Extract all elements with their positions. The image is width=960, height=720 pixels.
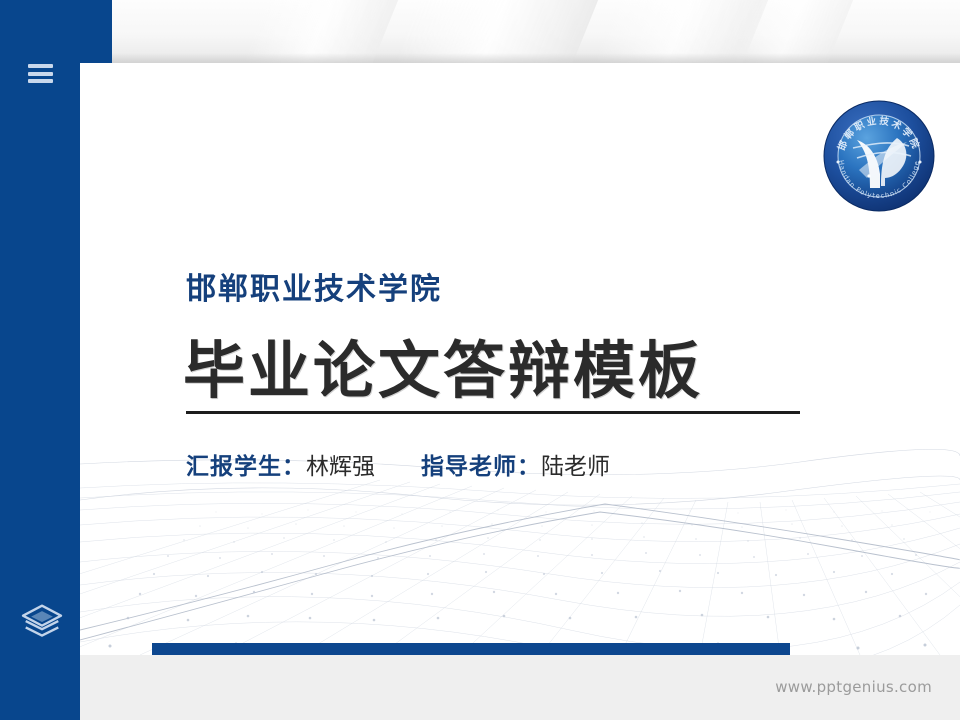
page-title: 毕业论文答辩模板 (183, 320, 703, 410)
advisor-name: 陆老师 (541, 454, 610, 480)
school-name: 邯郸职业技术学院 (186, 264, 442, 308)
card-bottom-accent-bar (152, 643, 790, 655)
hamburger-menu-icon[interactable] (28, 64, 53, 83)
title-divider (186, 411, 800, 414)
layers-stack-icon[interactable] (20, 603, 64, 641)
footer-website-url[interactable]: www.pptgenius.com (775, 678, 932, 696)
presenter-name: 林辉强 (306, 454, 375, 480)
advisor-label: 指导老师： (421, 454, 541, 480)
byline: 汇报学生：林辉强指导老师：陆老师 (186, 447, 610, 481)
handan-polytechnic-college-emblem-icon: 邯郸职业技术学院 Handan Polytechnic College (823, 100, 935, 212)
hamburger-bar-1 (28, 64, 53, 68)
hamburger-bar-3 (28, 79, 53, 83)
presenter-label: 汇报学生： (186, 454, 306, 480)
band-bottom-shadow (0, 53, 960, 63)
hamburger-bar-2 (28, 72, 53, 76)
slide-canvas: 邯郸职业技术学院 Handan Polytechnic College 邯郸 (0, 0, 960, 720)
top-decorative-band (0, 0, 960, 63)
